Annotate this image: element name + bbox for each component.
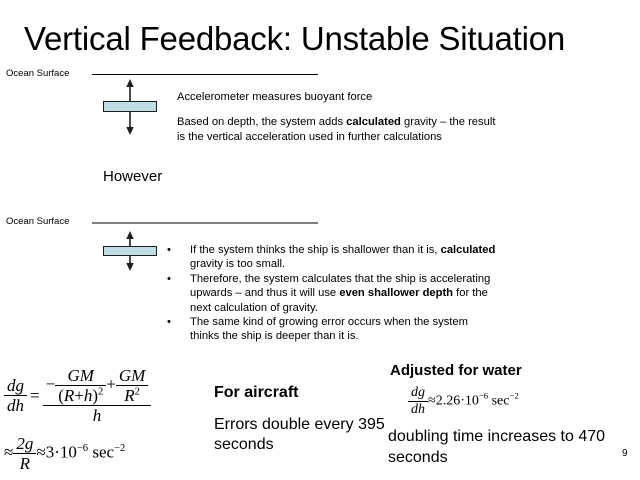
formula-term1-denominator: (R+h)2 [55,386,106,405]
term1-R: R [64,386,74,405]
bullet-text-part1: The same kind of growing error occurs wh… [190,316,468,342]
for-aircraft-body: Errors double every 395 seconds [214,415,394,455]
bullet-text-bold: calculated [441,244,496,256]
formula-term2-numerator: GM [116,366,148,386]
bullet-marker-icon: • [167,243,171,257]
formula-rhs-fraction: −GM(R+h)2+GMR2 h [43,366,152,425]
approx-numerator: 2g [13,434,36,454]
ocean-surface-label-top: Ocean Surface [6,68,69,79]
accelerometer-box-top [103,101,157,112]
formula-rhs-denominator: h [43,406,152,425]
desc-bold-calculated: calculated [346,116,401,128]
bullet-marker-icon: • [167,315,171,329]
accelerometer-box-bottom [103,246,157,256]
formula-term2: GMR2 [116,366,148,405]
bullet-text-bold: even shallower depth [339,287,453,299]
page-title: Vertical Feedback: Unstable Situation [24,20,620,58]
bullet-marker-icon: • [167,272,171,286]
approx-value: 3·10 [46,442,77,461]
adjusted-for-water-heading: Adjusted for water [390,362,522,380]
water-approx-sign: ≈ [428,393,436,408]
formula-term1: GM(R+h)2 [55,366,106,405]
formula-equals-sign: = [27,386,43,406]
formula-term2-denominator: R2 [116,386,148,405]
approx-unit-exponent: −2 [114,443,125,454]
water-numerator: dg [408,385,428,402]
approx-unit: sec [92,442,114,461]
formula-term1-numerator: GM [55,366,106,386]
approx-sign-1: ≈ [4,442,13,461]
adjusted-for-water-body: doubling time increases to 470 seconds [388,426,638,468]
water-unit: sec [492,393,510,408]
for-aircraft-heading: For aircraft [214,383,298,402]
formula-rhs-numerator: −GM(R+h)2+GMR2 [43,366,152,406]
calculated-gravity-description: Based on depth, the system adds calculat… [177,115,497,144]
bullet-list: • If the system thinks the ship is shall… [167,243,497,344]
formula-plus-sign: + [106,374,116,393]
formula-lhs-denominator: dh [4,396,27,415]
bullet-text-part2: gravity is too small. [190,258,285,270]
term1-exponent: 2 [98,386,103,397]
term2-R: R [124,386,134,405]
approx-sign-2: ≈ [36,442,45,461]
formula-lhs-numerator: dg [4,376,27,396]
however-label: However [103,168,162,186]
accelerometer-diagram-bottom [84,230,174,272]
accelerometer-description-line1: Accelerometer measures buoyant force [177,90,517,105]
term2-exponent: 2 [135,386,140,397]
ocean-surface-line-bottom [92,222,318,224]
water-unit-exponent: −2 [509,391,518,401]
approx-fraction: 2gR [13,434,36,473]
formula-minus-sign: − [46,374,56,393]
water-fraction: dgdh [408,385,428,417]
desc-part-1: Based on depth, the system adds [177,116,346,128]
water-derivative-formula: dgdh≈2.26·10−6 sec−2 [408,385,519,417]
water-denominator: dh [408,402,428,418]
slide-canvas: Vertical Feedback: Unstable Situation Oc… [0,0,640,480]
ocean-surface-label-bottom: Ocean Surface [6,216,69,227]
approx-denominator: R [13,454,36,473]
approx-value-exponent: −6 [77,443,88,454]
water-value-exponent: −6 [479,391,488,401]
list-item: • The same kind of growing error occurs … [167,315,497,344]
accelerometer-diagram-top [84,78,174,136]
list-item: • Therefore, the system calculates that … [167,272,497,315]
formula-lhs-fraction: dg dh [4,376,27,415]
derivative-formula-main: dg dh = −GM(R+h)2+GMR2 h [4,366,151,425]
bullet-text-part1: If the system thinks the ship is shallow… [190,244,441,256]
term1-plus: + [74,386,84,405]
page-number: 9 [622,448,628,459]
water-value: 2.26·10 [436,393,479,408]
accelerometer-description-text: Accelerometer measures buoyant force [177,91,372,103]
list-item: • If the system thinks the ship is shall… [167,243,497,272]
ocean-surface-line-top [92,74,318,75]
derivative-formula-approx: ≈2gR≈3·10−6 sec−2 [4,434,125,473]
